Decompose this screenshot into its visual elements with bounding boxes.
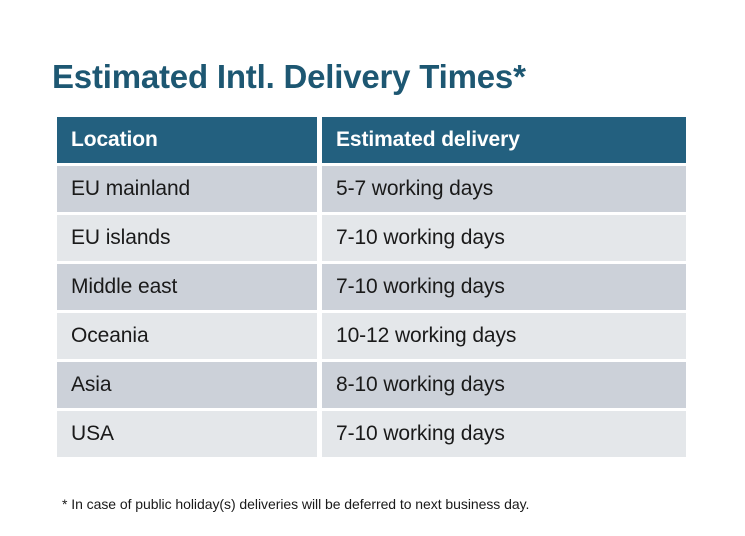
table-body: EU mainland 5-7 working days EU islands … xyxy=(57,166,686,457)
footnote: * In case of public holiday(s) deliverie… xyxy=(62,496,529,512)
cell-location: Asia xyxy=(57,362,317,408)
table-row: Asia 8-10 working days xyxy=(57,362,686,408)
table-row: EU islands 7-10 working days xyxy=(57,215,686,261)
cell-location: USA xyxy=(57,411,317,457)
cell-location: Oceania xyxy=(57,313,317,359)
cell-delivery: 7-10 working days xyxy=(322,264,686,310)
cell-delivery: 7-10 working days xyxy=(322,215,686,261)
table-row: USA 7-10 working days xyxy=(57,411,686,457)
table-header: Location Estimated delivery xyxy=(57,117,686,163)
cell-location: Middle east xyxy=(57,264,317,310)
cell-delivery: 5-7 working days xyxy=(322,166,686,212)
cell-location: EU mainland xyxy=(57,166,317,212)
cell-delivery: 8-10 working days xyxy=(322,362,686,408)
table-row: EU mainland 5-7 working days xyxy=(57,166,686,212)
cell-location: EU islands xyxy=(57,215,317,261)
cell-delivery: 10-12 working days xyxy=(322,313,686,359)
cell-delivery: 7-10 working days xyxy=(322,411,686,457)
column-header-location: Location xyxy=(57,117,317,163)
table-row: Oceania 10-12 working days xyxy=(57,313,686,359)
table-header-row: Location Estimated delivery xyxy=(57,117,686,163)
delivery-times-table: Location Estimated delivery EU mainland … xyxy=(52,114,691,460)
delivery-times-page: Estimated Intl. Delivery Times* Location… xyxy=(0,0,745,536)
page-title: Estimated Intl. Delivery Times* xyxy=(52,58,526,96)
table-row: Middle east 7-10 working days xyxy=(57,264,686,310)
column-header-delivery: Estimated delivery xyxy=(322,117,686,163)
